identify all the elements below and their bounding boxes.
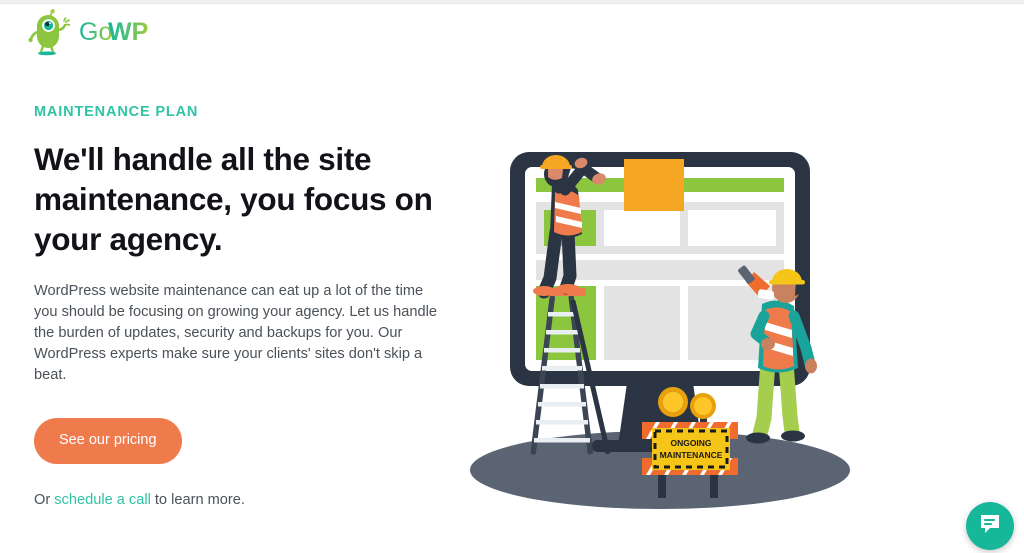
ongoing-maintenance-sign [652,428,730,470]
secondary-cta-prefix: Or [34,492,54,508]
secondary-cta-row: Or schedule a call to learn more. [34,490,454,511]
chat-bubble-icon [979,513,1001,540]
chat-widget-button[interactable] [966,502,1014,550]
wireframe-white-block-2 [688,210,776,246]
hero-eyebrow: MAINTENANCE PLAN [34,104,454,121]
website-maintenance-illustration: ONGOING MAINTENANCE [452,140,872,510]
svg-text:WP: WP [108,18,148,46]
wireframe-gray-block-1 [604,286,680,360]
see-pricing-button[interactable]: See our pricing [34,418,182,464]
hero-content: MAINTENANCE PLAN We'll handle all the si… [34,104,454,511]
site-logo-wordmark: Go WP [79,15,169,49]
browser-top-bar [0,0,1024,4]
wireframe-white-block-1 [604,210,680,246]
orange-content-block [624,159,684,211]
sign-line-1: ONGOING [670,438,711,448]
sign-line-2: MAINTENANCE [660,450,723,460]
hero-body-text: WordPress website maintenance can eat up… [34,281,442,386]
gowp-robot-mascot-icon [24,8,70,56]
site-logo[interactable]: Go WP [24,8,169,56]
schedule-a-call-link[interactable]: schedule a call [54,492,151,508]
page-root: Go WP MAINTENANCE PLAN We'll handle all … [0,0,1024,553]
page-title: We'll handle all the site maintenance, y… [34,139,454,259]
secondary-cta-suffix: to learn more. [151,492,245,508]
